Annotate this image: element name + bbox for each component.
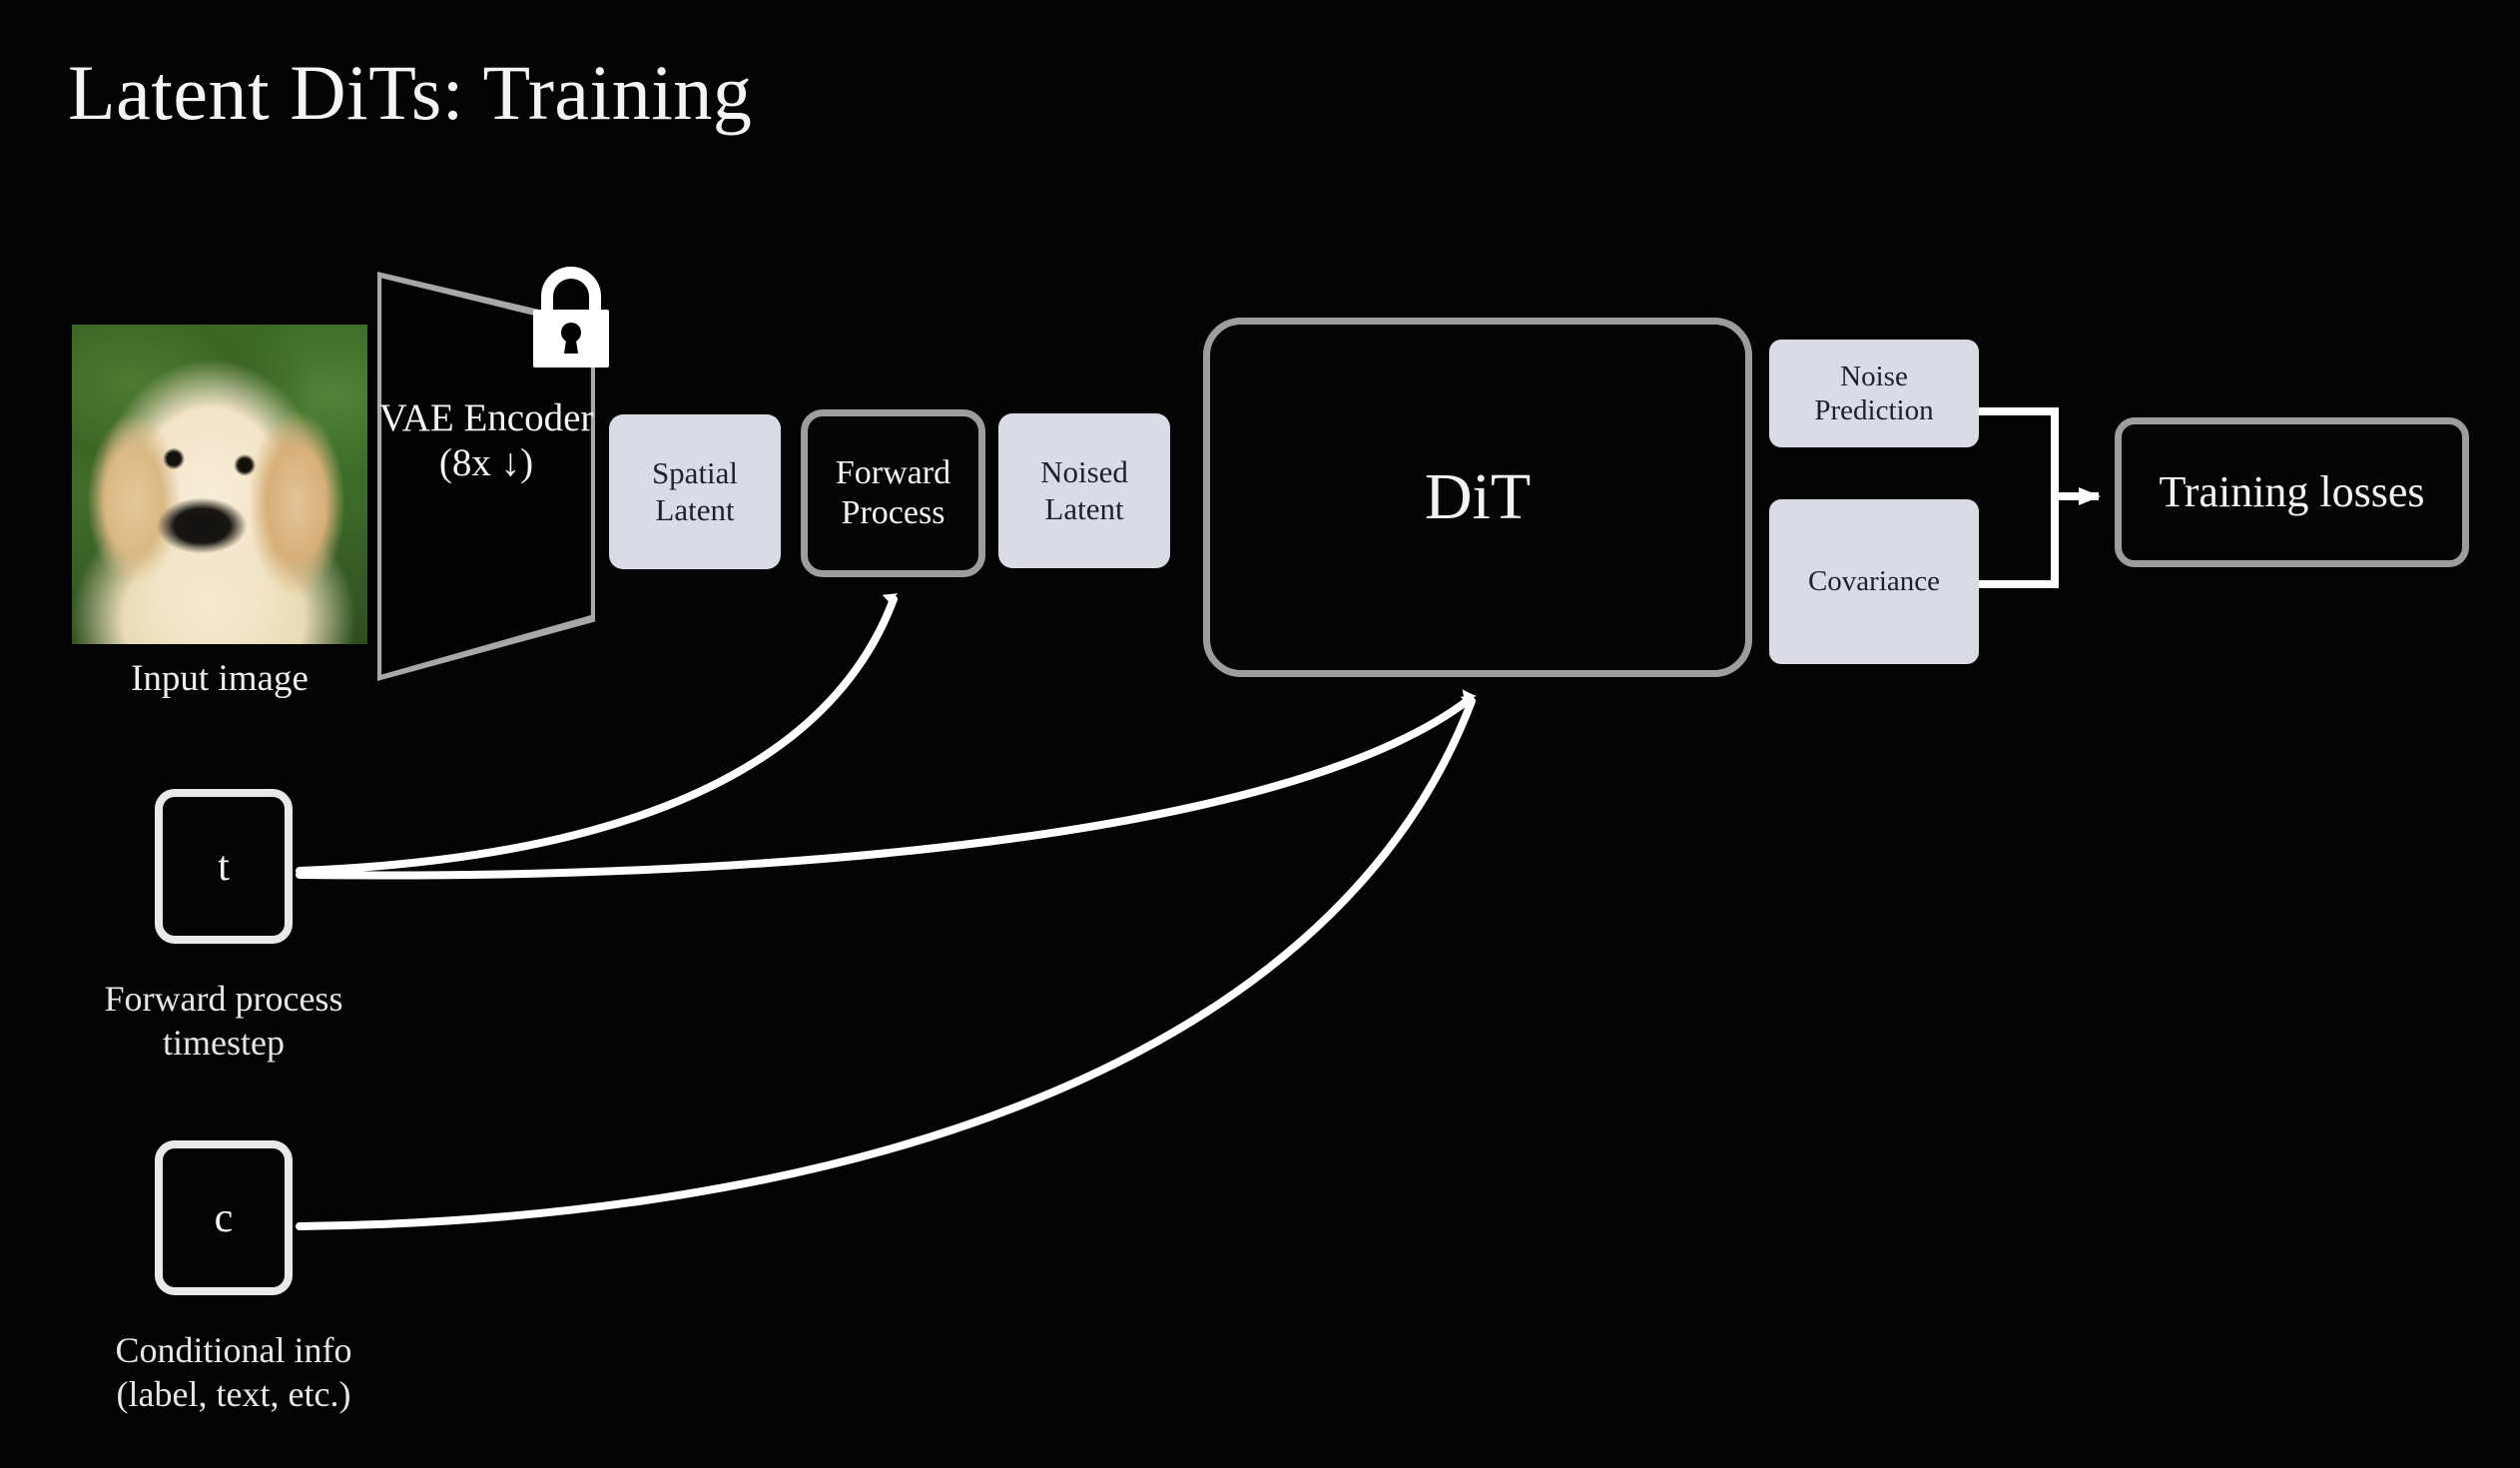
slide-canvas: Latent DiTs: Training Input image VAE En… [0,0,2520,1468]
conditioning-caption: Conditional info (label, text, etc.) [0,1328,467,1416]
vae-encoder-label: VAE Encoder (8x ↓) [377,395,595,485]
timestep-caption: Forward process timestep [0,977,447,1065]
node-spatial-latent: Spatial Latent [609,414,781,569]
input-image-thumbnail [72,325,367,644]
node-noised-latent: Noised Latent [998,413,1170,568]
node-noise-prediction: Noise Prediction [1769,340,1979,447]
node-covariance: Covariance [1769,499,1979,664]
connector-outputs-bracket [1979,411,2055,584]
connector-overlay [0,0,2520,1468]
node-forward-process: Forward Process [801,409,985,577]
node-timestep-variable: t [155,789,293,944]
connector-t-to-dit [300,699,1470,876]
node-conditioning-variable: c [155,1140,293,1295]
input-image-caption: Input image [72,657,367,700]
lock-icon [523,264,619,373]
page-title: Latent DiTs: Training [68,48,752,138]
node-training-losses: Training losses [2115,417,2469,567]
connector-c-to-dit [300,701,1472,1226]
node-dit: DiT [1203,318,1752,677]
